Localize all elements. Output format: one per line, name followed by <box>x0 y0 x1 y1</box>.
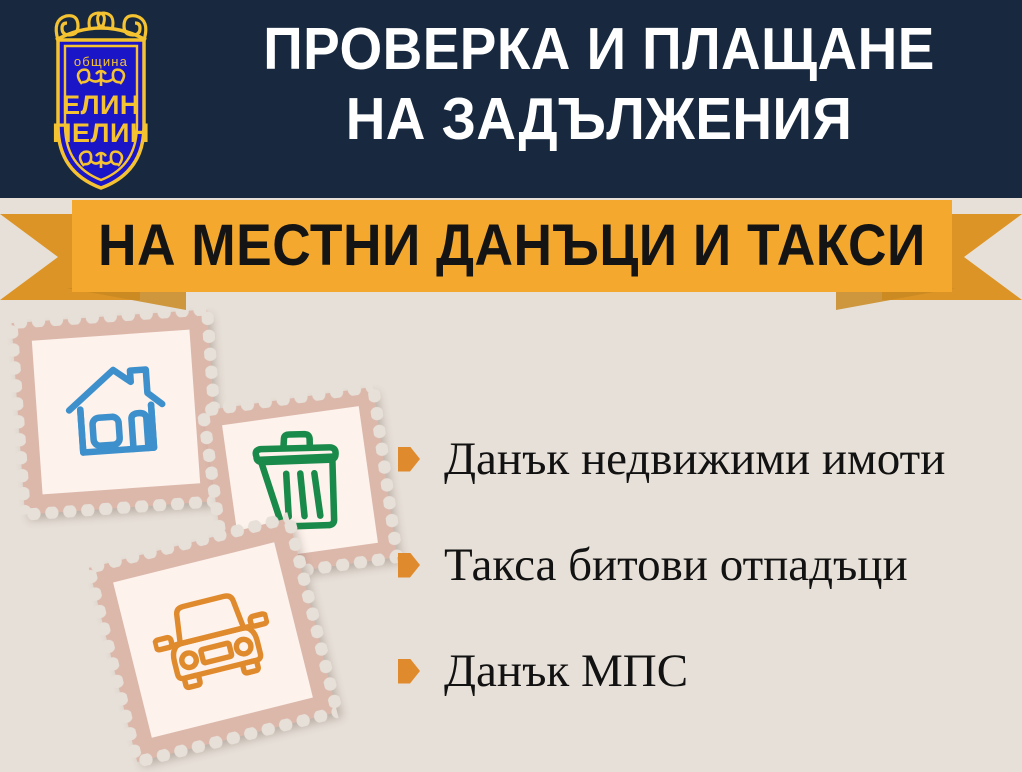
svg-text:община: община <box>74 54 128 69</box>
list-item-label: Такса битови отпадъци <box>444 539 908 591</box>
stamp-inner-paper <box>32 330 200 495</box>
stamp-card-property-tax <box>12 309 221 514</box>
house-icon <box>56 354 175 471</box>
svg-text:ЕЛИН: ЕЛИН <box>62 90 140 120</box>
municipality-crest-icon: община ЕЛИН ПЕЛИН <box>26 6 176 192</box>
ribbon-band: НА МЕСТНИ ДАНЪЦИ И ТАКСИ <box>72 200 952 292</box>
page-title: ПРОВЕРКА И ПЛАЩАНЕ НА ЗАДЪЛЖЕНИЯ <box>215 14 983 154</box>
list-item: Данък недвижими имоти <box>398 424 1004 494</box>
list-item-label: Данък недвижими имоти <box>444 433 945 485</box>
svg-text:ПЕЛИН: ПЕЛИН <box>52 118 150 148</box>
list-item: Такса битови отпадъци <box>398 530 1004 600</box>
subtitle-ribbon: НА МЕСТНИ ДАНЪЦИ И ТАКСИ <box>0 200 1022 304</box>
ribbon-subtitle: НА МЕСТНИ ДАНЪЦИ И ТАКСИ <box>98 216 926 276</box>
list-item: Данък МПС <box>398 636 1004 706</box>
arrow-bullet-icon <box>398 659 420 684</box>
arrow-bullet-icon <box>398 553 420 578</box>
page-title-line-1: ПРОВЕРКА И ПЛАЩАНЕ <box>215 14 983 84</box>
stamp-inner-paper <box>113 542 313 737</box>
arrow-bullet-icon <box>398 447 420 472</box>
car-icon <box>144 579 282 701</box>
scallop-edge-left <box>6 323 31 515</box>
tax-type-list: Данък недвижими имоти Такса битови отпад… <box>398 424 1004 742</box>
page-title-line-2: НА ЗАДЪЛЖЕНИЯ <box>215 84 983 154</box>
poster-canvas: община ЕЛИН ПЕЛИН ПРОВЕРКА И ПЛАЩ <box>0 0 1022 772</box>
list-item-label: Данък МПС <box>444 645 688 697</box>
scallop-edge-bottom <box>25 495 221 521</box>
